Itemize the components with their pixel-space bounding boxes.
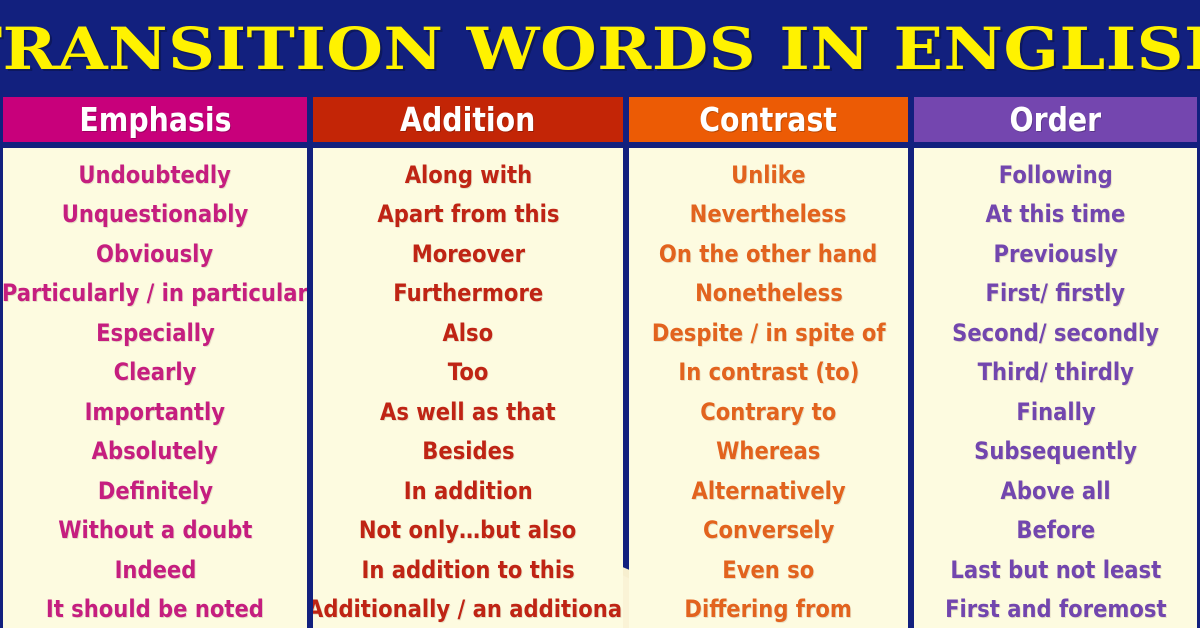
list-item: Last but not least bbox=[936, 551, 1176, 591]
list-item-label: Subsequently bbox=[974, 432, 1137, 472]
list-item-label: Nevertheless bbox=[690, 195, 847, 235]
list-item-label: As well as that bbox=[380, 393, 556, 433]
column-order: Order Following At this time Previously … bbox=[914, 97, 1197, 628]
column-header-label-contrast: Contrast bbox=[700, 103, 838, 136]
list-item-label: Clearly bbox=[114, 353, 197, 393]
list-item: Too bbox=[445, 353, 491, 393]
list-item: Contrary to bbox=[691, 393, 846, 433]
column-header-emphasis: Emphasis bbox=[3, 97, 307, 142]
list-item-label: Above all bbox=[1000, 472, 1110, 512]
list-item-label: Undoubtedly bbox=[79, 156, 232, 196]
list-item: In addition bbox=[395, 472, 541, 512]
list-item-label: Despite / in spite of bbox=[652, 314, 886, 354]
list-item-label: Before bbox=[1016, 511, 1095, 551]
list-item: Following bbox=[991, 156, 1121, 196]
list-item-label: In addition bbox=[404, 472, 533, 512]
list-item: Nonetheless bbox=[685, 274, 853, 314]
list-item: Above all bbox=[993, 472, 1118, 512]
list-item-label: Furthermore bbox=[393, 274, 543, 314]
list-item: Without a doubt bbox=[45, 511, 266, 551]
list-item: Particularly / in particular bbox=[3, 274, 307, 314]
list-item: Especially bbox=[88, 314, 223, 354]
list-item: Not only…but also bbox=[344, 511, 591, 551]
list-item: Importantly bbox=[75, 393, 235, 433]
list-item: Apart from this bbox=[365, 195, 572, 235]
list-item-label: Alternatively bbox=[691, 472, 845, 512]
column-body-order: Following At this time Previously First/… bbox=[914, 148, 1197, 628]
list-item-label: Along with bbox=[404, 156, 531, 196]
list-item: It should be noted bbox=[31, 590, 279, 628]
list-item: Absolutely bbox=[83, 432, 226, 472]
list-item-label: Differing from bbox=[685, 590, 852, 628]
list-item: Conversely bbox=[694, 511, 843, 551]
title-band: TRANSITION WORDS IN ENGLISH bbox=[0, 0, 1200, 97]
list-item-label: Third/ thirdly bbox=[977, 353, 1133, 393]
list-item: First/ firstly bbox=[976, 274, 1135, 314]
list-item: Even so bbox=[716, 551, 821, 591]
list-item: Clearly bbox=[108, 353, 202, 393]
list-item: First and foremost bbox=[930, 590, 1182, 628]
list-item: Subsequently bbox=[963, 432, 1148, 472]
list-item-label: On the other hand bbox=[659, 235, 877, 275]
column-contrast: Contrast Unlike Nevertheless On the othe… bbox=[629, 97, 908, 628]
list-item-label: Finally bbox=[1016, 393, 1095, 433]
column-emphasis: Emphasis Undoubtedly Unquestionably Obvi… bbox=[3, 97, 307, 628]
list-item-label: Unlike bbox=[731, 156, 805, 196]
list-item-label: Moreover bbox=[411, 235, 524, 275]
list-item-label: Unquestionably bbox=[62, 195, 248, 235]
column-header-order: Order bbox=[914, 97, 1197, 142]
list-item-label: Apart from this bbox=[377, 195, 559, 235]
list-item-label: Particularly / in particular bbox=[3, 274, 307, 314]
column-addition: Addition Along with Apart from this More… bbox=[313, 97, 623, 628]
column-body-emphasis: Undoubtedly Unquestionably Obviously Par… bbox=[3, 148, 307, 628]
list-item-label: Importantly bbox=[85, 393, 225, 433]
list-item-label: First and foremost bbox=[945, 590, 1166, 628]
list-item-label: Absolutely bbox=[92, 432, 218, 472]
list-item: As well as that bbox=[368, 393, 568, 433]
list-item: On the other hand bbox=[644, 235, 892, 275]
column-header-label-order: Order bbox=[1010, 103, 1102, 136]
list-item: Whereas bbox=[709, 432, 827, 472]
list-item: Furthermore bbox=[383, 274, 553, 314]
list-item-label: Whereas bbox=[716, 432, 820, 472]
transition-words-table: Emphasis Undoubtedly Unquestionably Obvi… bbox=[0, 97, 1200, 628]
list-item: Before bbox=[1011, 511, 1101, 551]
list-item: Differing from bbox=[673, 590, 863, 628]
column-header-contrast: Contrast bbox=[629, 97, 908, 142]
list-item: Unlike bbox=[726, 156, 811, 196]
list-item-label: Especially bbox=[96, 314, 215, 354]
list-item-label: Obviously bbox=[96, 235, 213, 275]
list-item-label: Indeed bbox=[114, 551, 196, 591]
list-item: Undoubtedly bbox=[68, 156, 241, 196]
column-header-label-addition: Addition bbox=[400, 103, 535, 136]
list-item: At this time bbox=[976, 195, 1135, 235]
list-item: Despite / in spite of bbox=[636, 314, 902, 354]
list-item: In addition to this bbox=[347, 551, 589, 591]
column-body-contrast: Unlike Nevertheless On the other hand No… bbox=[629, 148, 908, 628]
column-header-addition: Addition bbox=[313, 97, 623, 142]
list-item-label: At this time bbox=[986, 195, 1126, 235]
list-item-label: Even so bbox=[723, 551, 815, 591]
list-item: In contrast (to) bbox=[666, 353, 872, 393]
list-item-label: Too bbox=[448, 353, 489, 393]
list-item: Indeed bbox=[109, 551, 202, 591]
list-item-label: Last but not least bbox=[950, 551, 1161, 591]
list-item-label: Not only…but also bbox=[359, 511, 576, 551]
list-item: Along with bbox=[396, 156, 541, 196]
list-item-label: Contrary to bbox=[701, 393, 837, 433]
list-item-label: Following bbox=[999, 156, 1113, 196]
column-body-addition: Along with Apart from this Moreover Furt… bbox=[313, 148, 623, 628]
list-item: Additionally / an additional bbox=[313, 590, 623, 628]
list-item-label: First/ firstly bbox=[986, 274, 1126, 314]
list-item-label: Without a doubt bbox=[58, 511, 252, 551]
list-item: Finally bbox=[1011, 393, 1101, 433]
list-item-label: In addition to this bbox=[361, 551, 574, 591]
list-item-label: Nonetheless bbox=[695, 274, 843, 314]
list-item: Alternatively bbox=[681, 472, 856, 512]
page-title: TRANSITION WORDS IN ENGLISH bbox=[0, 20, 1200, 78]
list-item-label: Conversely bbox=[703, 511, 834, 551]
list-item: Moreover bbox=[404, 235, 533, 275]
list-item: Unquestionably bbox=[49, 195, 261, 235]
list-item-label: Definitely bbox=[97, 472, 212, 512]
list-item: Second/ secondly bbox=[938, 314, 1173, 354]
list-item-label: Previously bbox=[993, 235, 1117, 275]
list-item: Obviously bbox=[88, 235, 221, 275]
list-item-label: Besides bbox=[422, 432, 514, 472]
list-item: Also bbox=[439, 314, 497, 354]
transition-words-infographic: TRANSITION WORDS IN ENGLISH Emphasis Und… bbox=[0, 0, 1200, 628]
list-item: Besides bbox=[416, 432, 521, 472]
list-item-label: In contrast (to) bbox=[678, 353, 859, 393]
list-item-label: It should be noted bbox=[46, 590, 264, 628]
list-item: Third/ thirdly bbox=[967, 353, 1145, 393]
list-item: Definitely bbox=[90, 472, 221, 512]
list-item: Previously bbox=[985, 235, 1126, 275]
list-item-label: Additionally / an additional bbox=[313, 590, 623, 628]
list-item-label: Second/ secondly bbox=[952, 314, 1159, 354]
column-header-label-emphasis: Emphasis bbox=[79, 103, 231, 136]
list-item: Nevertheless bbox=[679, 195, 857, 235]
columns-container: Emphasis Undoubtedly Unquestionably Obvi… bbox=[0, 97, 1200, 628]
list-item-label: Also bbox=[443, 314, 494, 354]
